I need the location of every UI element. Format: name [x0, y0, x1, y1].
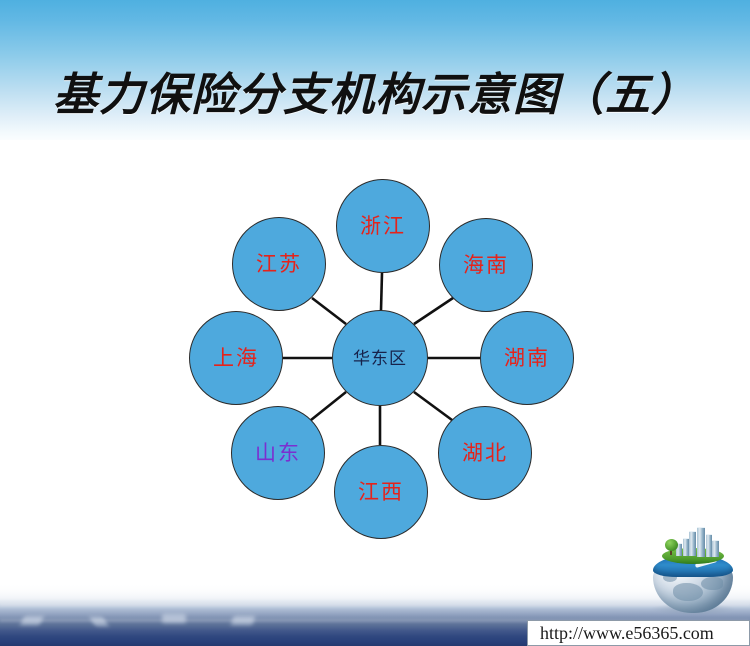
- node-label: 山东: [255, 443, 301, 464]
- edge-center-hubei: [414, 392, 452, 420]
- node-label: 湖北: [462, 443, 508, 464]
- skyscraper: [697, 527, 705, 557]
- slide-canvas: 基力保险分支机构示意图（五） 浙江 海南 湖南 湖北: [0, 0, 750, 646]
- skyscraper: [689, 531, 696, 556]
- node-label: 湖南: [504, 348, 550, 369]
- edge-center-zhejiang: [381, 273, 382, 310]
- tree-icon: [665, 539, 678, 551]
- edge-center-shandong: [311, 392, 346, 420]
- node-center-huadong[interactable]: 华东区: [332, 310, 428, 406]
- node-label: 海南: [463, 255, 509, 276]
- globe-city-icon: [645, 527, 741, 617]
- node-label: 江苏: [256, 254, 302, 275]
- node-jiangsu[interactable]: 江苏: [232, 217, 326, 311]
- node-label: 上海: [213, 348, 259, 369]
- node-label: 浙江: [360, 216, 406, 237]
- edge-center-jiangsu: [312, 298, 346, 324]
- node-hainan[interactable]: 海南: [439, 218, 533, 312]
- node-jiangxi[interactable]: 江西: [334, 445, 428, 539]
- node-hunan[interactable]: 湖南: [480, 311, 574, 405]
- skyscraper: [712, 540, 719, 557]
- watermark-url-text: http://www.e56365.com: [540, 623, 714, 644]
- globe-landmass: [673, 583, 703, 601]
- edge-center-hainan: [414, 298, 453, 324]
- node-hubei[interactable]: 湖北: [438, 406, 532, 500]
- watermark-url-box[interactable]: http://www.e56365.com: [527, 620, 750, 646]
- node-label: 华东区: [353, 350, 407, 367]
- node-zhejiang[interactable]: 浙江: [336, 179, 430, 273]
- node-shandong[interactable]: 山东: [231, 406, 325, 500]
- node-label: 江西: [358, 482, 404, 503]
- globe-landmass: [701, 577, 723, 590]
- node-shanghai[interactable]: 上海: [189, 311, 283, 405]
- org-chart-diagram: 浙江 海南 湖南 湖北 江西 山东 上海 江苏 华东区: [0, 0, 750, 646]
